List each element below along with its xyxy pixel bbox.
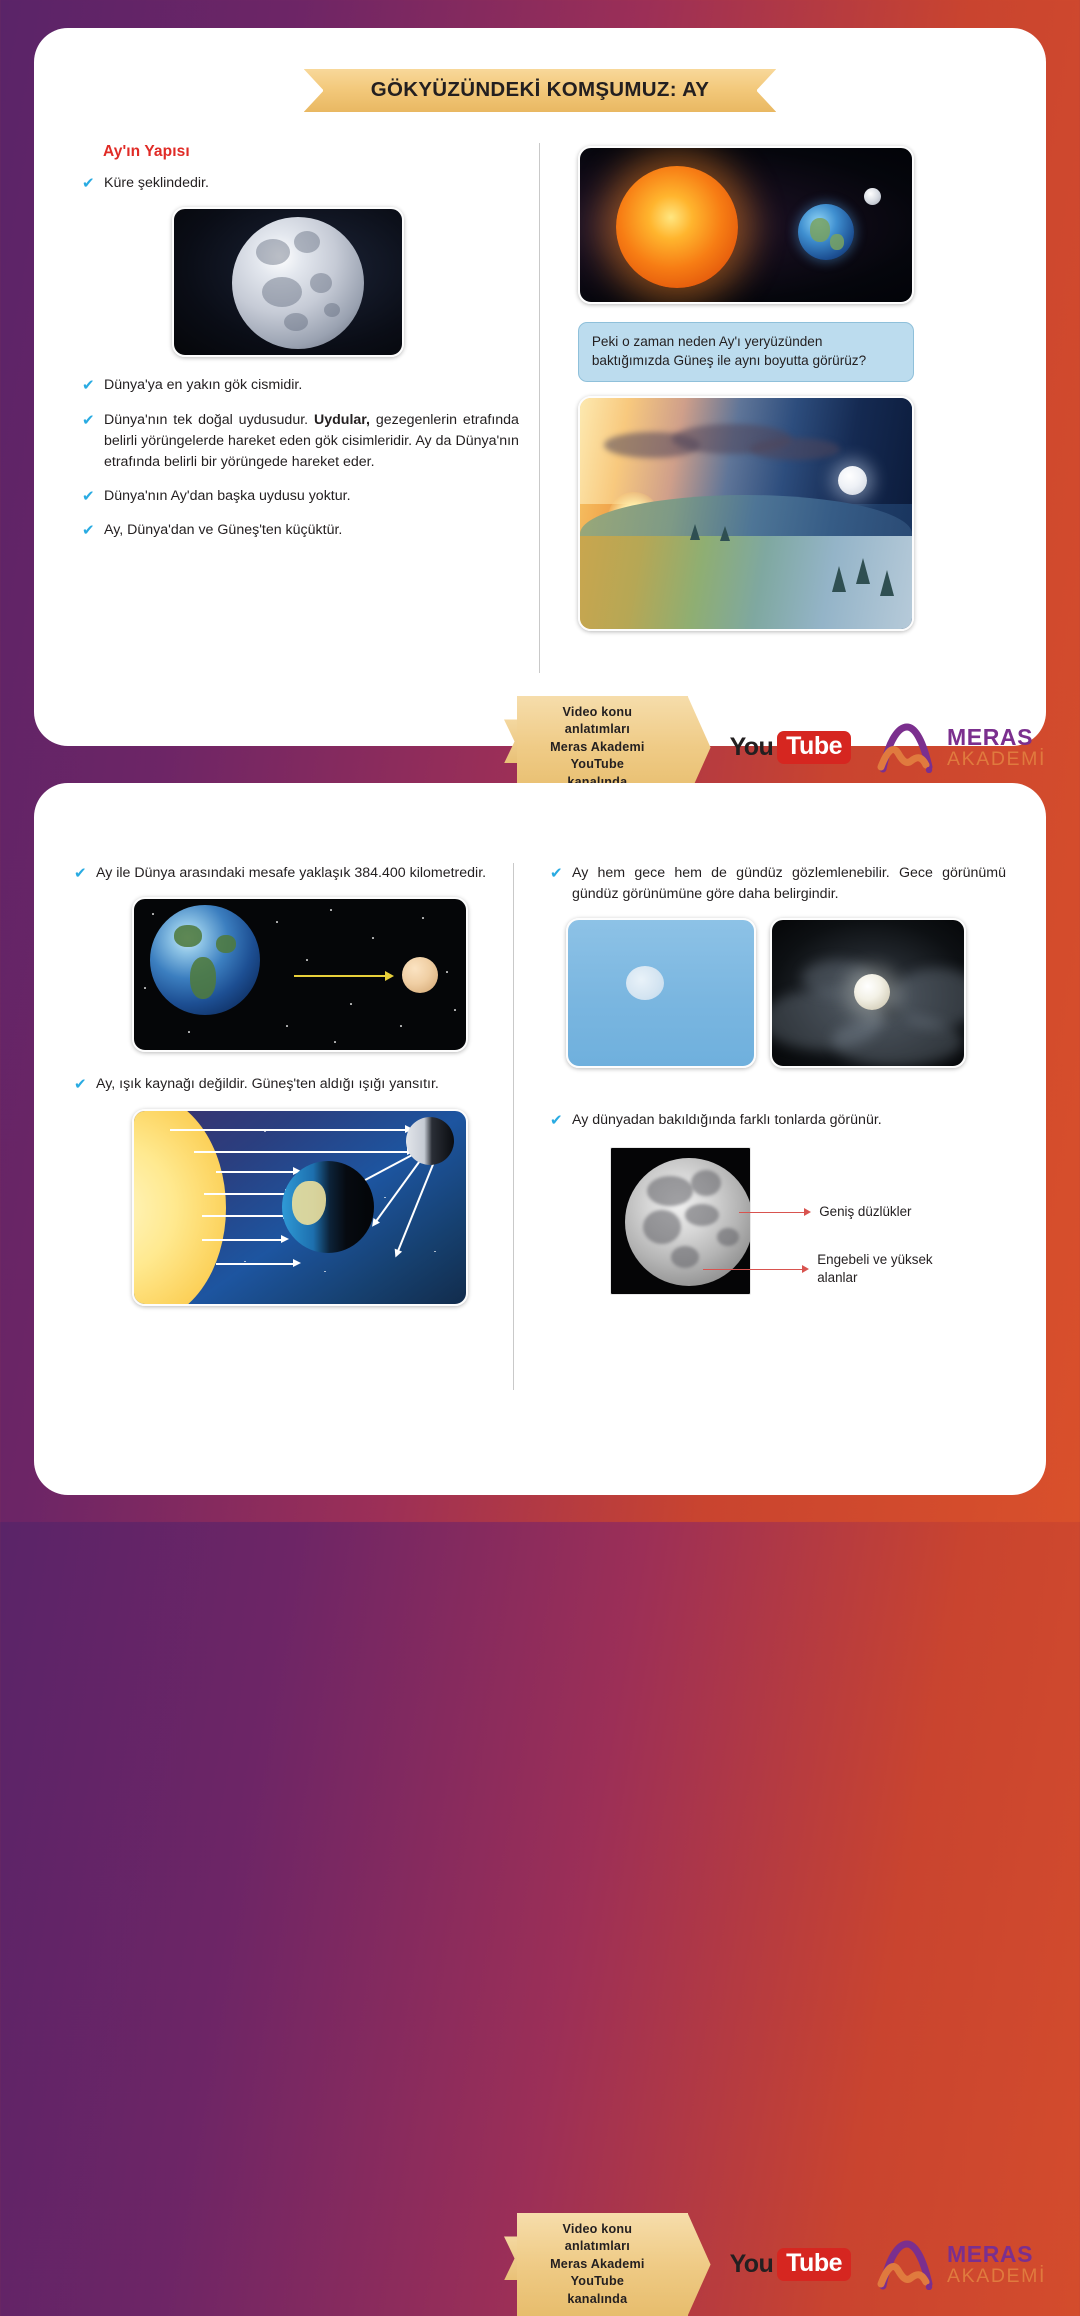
youtube-logo[interactable]: You Tube	[730, 731, 851, 764]
bullet-text: Ay, ışık kaynağı değildir. Güneş'ten ald…	[96, 1074, 439, 1095]
meras-akademi-logo[interactable]: MERAS AKADEMİ	[877, 721, 1046, 773]
check-icon: ✔	[74, 1075, 96, 1095]
bullet-text: Ay ile Dünya arasındaki mesafe yaklaşık …	[96, 863, 486, 884]
meras-wordmark: MERAS AKADEMİ	[947, 2243, 1046, 2287]
footer-banner: Video konu anlatımları Meras Akademi You…	[504, 2213, 1046, 2316]
crater	[324, 303, 340, 317]
earth-landmass	[810, 218, 830, 242]
speech-bubble-text: Peki o zaman neden Ay'ı yeryüzünden bakt…	[592, 332, 900, 371]
daytime-moon-image	[566, 918, 756, 1068]
annotation-arrow-icon	[739, 1212, 805, 1213]
light-reflection-diagram-image	[132, 1109, 468, 1306]
youtube-logo[interactable]: You Tube	[730, 2248, 851, 2281]
moon-icon	[402, 957, 438, 993]
section-heading-ayin-yapisi: Ay'ın Yapısı	[103, 143, 519, 161]
page1-right-column: Peki o zaman neden Ay'ı yeryüzünden bakt…	[540, 143, 998, 673]
mare-region	[671, 1246, 699, 1268]
distance-arrow-icon	[294, 975, 386, 977]
crater	[284, 313, 308, 331]
moon-disc	[626, 966, 664, 1000]
meras-bottom-text: AKADEMİ	[947, 750, 1046, 770]
mare-region	[685, 1204, 719, 1226]
ribbon-line-2: Meras Akademi YouTube kanalında	[541, 2256, 653, 2308]
reflected-ray	[375, 1157, 422, 1221]
reflected-ray	[397, 1161, 435, 1251]
crater	[256, 239, 290, 265]
list-item: ✔ Ay hem gece hem de gündüz gözlemlenebi…	[550, 863, 1006, 905]
meras-bottom-text: AKADEMİ	[947, 2267, 1046, 2287]
cloud	[750, 438, 840, 460]
page2-right-column: ✔ Ay hem gece hem de gündüz gözlemlenebi…	[514, 863, 1006, 1390]
list-item: ✔ Dünya'nın tek doğal uydusudur. Uydular…	[82, 410, 519, 473]
moon-disc	[854, 974, 890, 1010]
page-card-2: ✔ Ay ile Dünya arasındaki mesafe yaklaşı…	[34, 783, 1046, 1495]
meras-mark-icon	[877, 721, 935, 773]
earth-landmass	[216, 935, 236, 953]
page2-left-column: ✔ Ay ile Dünya arasındaki mesafe yaklaşı…	[74, 863, 513, 1390]
check-icon: ✔	[550, 1111, 572, 1131]
ribbon-text: Video konu anlatımları Meras Akademi You…	[517, 2213, 687, 2316]
crater	[262, 277, 302, 307]
annotation-engebeli-alanlar: Engebeli ve yüksek alanlar	[703, 1251, 967, 1287]
list-item: ✔ Ay ile Dünya arasındaki mesafe yaklaşı…	[74, 863, 493, 884]
list-item: ✔ Dünya'ya en yakın gök cismidir.	[82, 375, 519, 396]
ribbon-line-1: Video konu anlatımları	[541, 2221, 653, 2256]
meras-top-text: MERAS	[947, 726, 1046, 749]
page-card-1: GÖKYÜZÜNDEKİ KOMŞUMUZ: AY Ay'ın Yapısı ✔…	[34, 28, 1046, 746]
speech-bubble: Peki o zaman neden Ay'ı yeryüzünden bakt…	[578, 322, 914, 382]
crater	[310, 273, 332, 293]
check-icon: ✔	[82, 376, 104, 396]
meras-wordmark: MERAS AKADEMİ	[947, 726, 1046, 770]
list-item: ✔ Dünya'nın Ay'dan başka uydusu yoktur.	[82, 486, 519, 507]
list-item: ✔ Ay, Dünya'dan ve Güneş'ten küçüktür.	[82, 520, 519, 541]
moon-icon	[406, 1117, 454, 1165]
bullet-text: Ay hem gece hem de gündüz gözlemlenebili…	[572, 863, 1006, 905]
youtube-you-text: You	[730, 2250, 774, 2279]
ribbon-line-1: Video konu anlatımları	[541, 704, 653, 739]
earth-landmass	[190, 957, 216, 999]
sun-icon	[132, 1109, 226, 1306]
mare-region	[691, 1170, 721, 1196]
check-icon: ✔	[550, 864, 572, 884]
moon-icon	[864, 188, 881, 205]
earth-icon	[150, 905, 260, 1015]
moon-icon	[838, 466, 867, 495]
youtube-tube-badge: Tube	[777, 731, 851, 764]
earth-landmass	[830, 234, 844, 250]
earth-icon	[798, 204, 854, 260]
check-icon: ✔	[82, 521, 104, 541]
light-ray	[216, 1171, 294, 1173]
tree	[690, 524, 700, 540]
meras-top-text: MERAS	[947, 2243, 1046, 2266]
check-icon: ✔	[74, 864, 96, 884]
tree	[832, 566, 846, 592]
list-item: ✔ Küre şeklindedir.	[82, 173, 519, 194]
light-ray	[194, 1151, 408, 1153]
page-title: GÖKYÜZÜNDEKİ KOMŞUMUZ: AY	[323, 69, 758, 112]
mare-region	[717, 1228, 739, 1246]
list-item: ✔ Ay dünyadan bakıldığında farklı tonlar…	[550, 1110, 1006, 1131]
annotation-label: Engebeli ve yüksek alanlar	[817, 1251, 967, 1287]
moon-photo-pair	[566, 918, 1006, 1068]
mare-region	[647, 1176, 693, 1206]
check-icon: ✔	[82, 411, 104, 431]
annotation-label: Geniş düzlükler	[819, 1203, 911, 1221]
page1-left-column: Ay'ın Yapısı ✔ Küre şeklindedir. ✔ Düny	[82, 143, 539, 673]
moon-disc	[232, 217, 364, 349]
light-ray	[204, 1193, 286, 1195]
earth-moon-distance-image	[132, 897, 468, 1052]
bullet-text: Ay, Dünya'dan ve Güneş'ten küçüktür.	[104, 520, 342, 541]
bullet-text-uydular: Dünya'nın tek doğal uydusudur. Uydular, …	[104, 410, 519, 473]
moon-photo-image	[172, 207, 404, 357]
check-icon: ✔	[82, 487, 104, 507]
youtube-tube-badge: Tube	[777, 2248, 851, 2281]
earth-icon	[282, 1161, 374, 1253]
annotation-arrow-icon	[703, 1269, 803, 1270]
page1-columns: Ay'ın Yapısı ✔ Küre şeklindedir. ✔ Düny	[82, 143, 998, 673]
light-ray	[202, 1215, 284, 1217]
earth-landmass	[292, 1181, 326, 1225]
night-moon-image	[770, 918, 966, 1068]
light-ray	[202, 1239, 282, 1241]
bullet-text: Küre şeklindedir.	[104, 173, 209, 194]
light-ray	[170, 1129, 406, 1131]
title-banner-container: GÖKYÜZÜNDEKİ KOMŞUMUZ: AY	[34, 69, 1046, 112]
crater	[294, 231, 320, 253]
meras-mark-icon	[877, 2238, 935, 2290]
check-icon: ✔	[82, 174, 104, 194]
mare-region	[643, 1210, 681, 1244]
bullet-text: Ay dünyadan bakıldığında farklı tonlarda…	[572, 1110, 882, 1131]
day-night-landscape-image	[578, 396, 914, 631]
tree	[880, 570, 894, 596]
youtube-you-text: You	[730, 733, 774, 762]
annotation-group: Geniş düzlükler Engebeli ve yüksek alanl…	[751, 1147, 1006, 1295]
annotated-moon-section: Geniş düzlükler Engebeli ve yüksek alanl…	[610, 1147, 1006, 1295]
page2-columns: ✔ Ay ile Dünya arasındaki mesafe yaklaşı…	[74, 863, 1006, 1390]
light-ray	[216, 1263, 294, 1265]
meras-akademi-logo[interactable]: MERAS AKADEMİ	[877, 2238, 1046, 2290]
tree	[720, 526, 730, 541]
annotation-genis-duzlukler: Geniş düzlükler	[739, 1203, 911, 1221]
sun-icon	[616, 166, 738, 288]
list-item: ✔ Ay, ışık kaynağı değildir. Güneş'ten a…	[74, 1074, 493, 1095]
bullet-text: Dünya'nın Ay'dan başka uydusu yoktur.	[104, 486, 351, 507]
bullet-text: Dünya'ya en yakın gök cismidir.	[104, 375, 302, 396]
sun-earth-moon-image	[578, 146, 914, 304]
earth-landmass	[174, 925, 202, 947]
tree	[856, 558, 870, 584]
